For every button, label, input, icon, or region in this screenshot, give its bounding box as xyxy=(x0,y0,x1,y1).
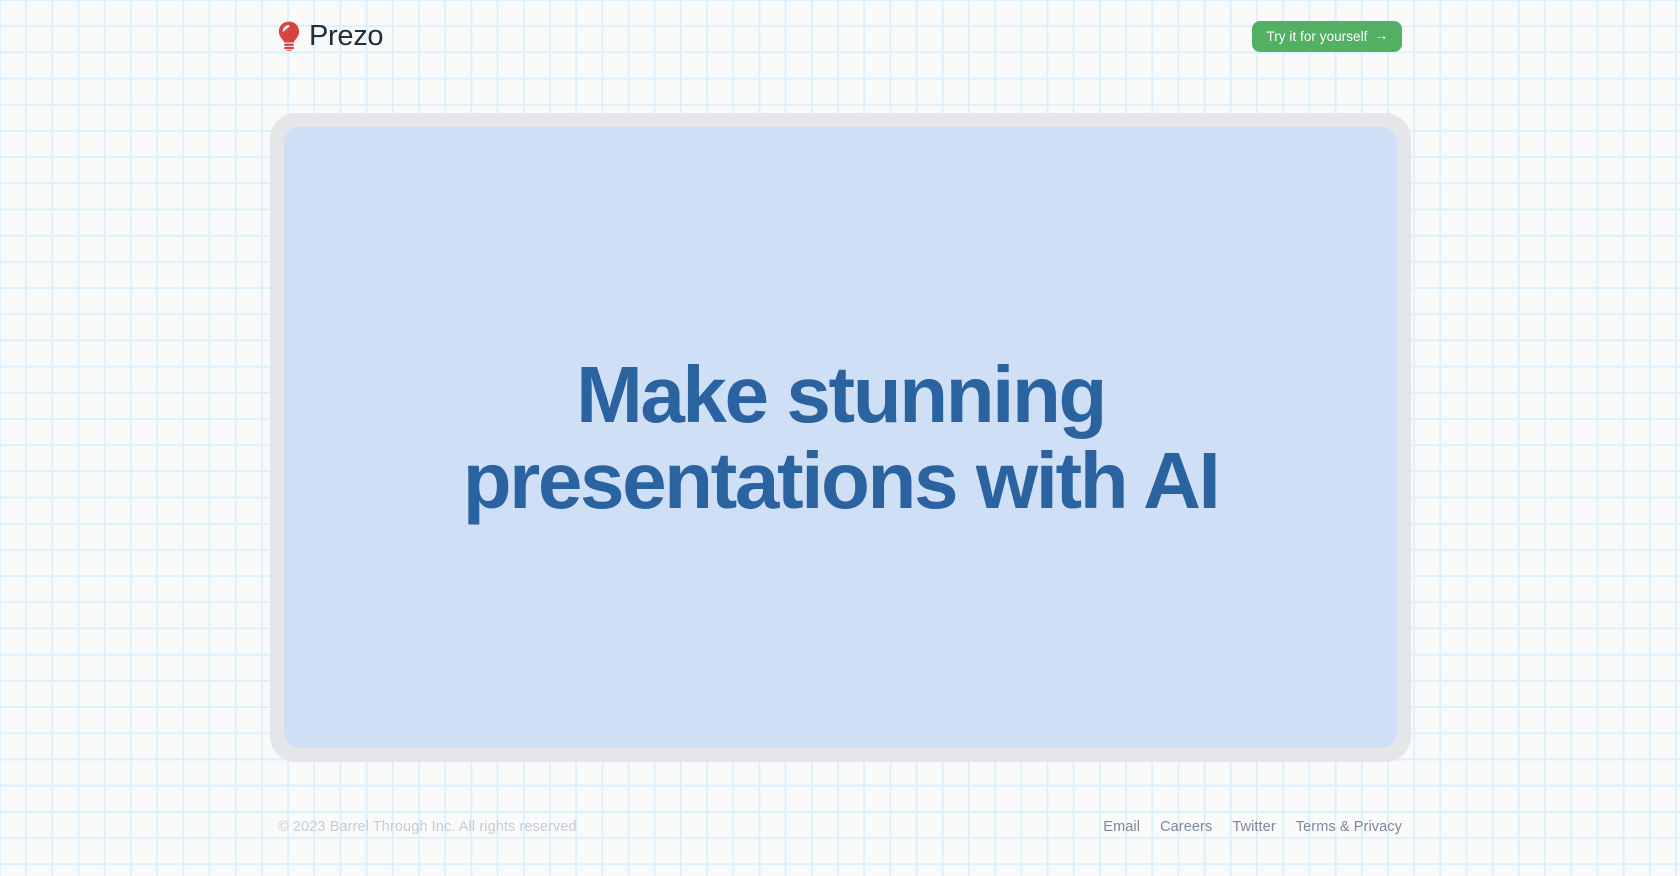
try-it-button[interactable]: Try it for yourself → xyxy=(1252,21,1402,52)
brand-logo[interactable]: Prezo xyxy=(278,21,383,51)
footer-link-twitter[interactable]: Twitter xyxy=(1232,819,1275,835)
footer-links: Email Careers Twitter Terms & Privacy xyxy=(1103,819,1402,835)
footer-link-email[interactable]: Email xyxy=(1103,819,1140,835)
slide-headline: Make stunning presentations with AI xyxy=(421,352,1261,523)
lightbulb-icon xyxy=(278,21,300,51)
footer-link-careers[interactable]: Careers xyxy=(1160,819,1212,835)
arrow-right-icon: → xyxy=(1374,29,1388,43)
landing-page: Prezo Try it for yourself → Make stunnin… xyxy=(0,0,1680,876)
page-footer: © 2023 Barrel Through Inc. All rights re… xyxy=(0,778,1680,876)
brand-name: Prezo xyxy=(309,22,383,51)
page-header: Prezo Try it for yourself → xyxy=(0,0,1680,72)
slide-canvas[interactable]: Make stunning presentations with AI xyxy=(284,127,1397,748)
slide-frame: Make stunning presentations with AI xyxy=(270,113,1411,762)
footer-link-terms-privacy[interactable]: Terms & Privacy xyxy=(1296,819,1402,835)
copyright-text: © 2023 Barrel Through Inc. All rights re… xyxy=(278,819,577,835)
try-it-button-label: Try it for yourself xyxy=(1266,29,1367,44)
